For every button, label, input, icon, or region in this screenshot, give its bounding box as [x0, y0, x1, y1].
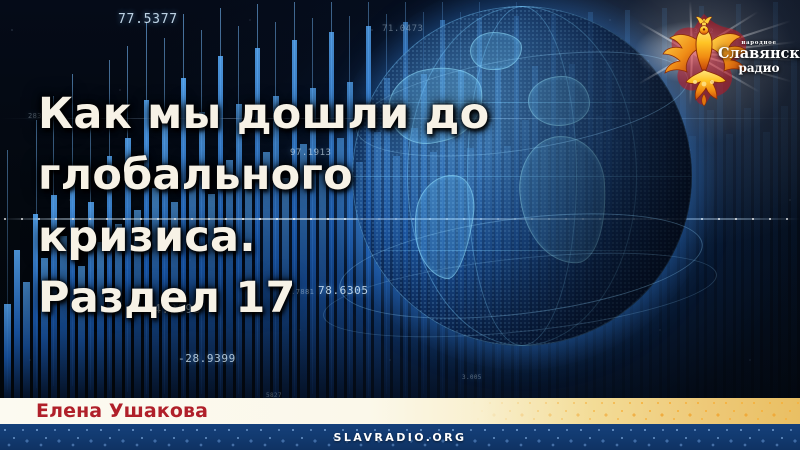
chart-bar: [14, 250, 20, 400]
website-footer-bar[interactable]: SLAVRADIO.ORG: [0, 424, 800, 450]
speaker-name: Елена Ушакова: [36, 400, 208, 422]
logo-main-text: Славянское: [718, 46, 800, 62]
logo-wordmark: народное Славянское радио: [718, 40, 800, 75]
chart-bar: [744, 108, 751, 400]
website-url: SLAVRADIO.ORG: [333, 431, 466, 444]
page-title: Как мы дошли до глобального кризиса. Раз…: [38, 84, 558, 330]
speaker-name-bar: Елена Ушакова: [0, 398, 800, 424]
numeric-readout: 3.005: [462, 374, 482, 381]
chart-bar: [707, 110, 714, 400]
logo-sub-text: радио: [718, 62, 800, 75]
title-line-3: Раздел 17: [38, 268, 558, 329]
chart-bar: [781, 106, 788, 400]
gold-ornament-pattern: [470, 398, 800, 424]
numeric-readout: 77.5377: [118, 12, 178, 27]
thumbnail-canvas: 77.537771.047328397.1913-64.369382.78817…: [0, 0, 800, 450]
chart-bar: [726, 134, 733, 400]
chart-bar: [4, 304, 11, 400]
chart-bar: [23, 282, 30, 400]
title-line-1: Как мы дошли до: [38, 84, 558, 145]
title-line-2: глобального кризиса.: [38, 145, 558, 268]
numeric-readout: 71.0473: [382, 24, 423, 34]
chart-bar: [763, 132, 770, 400]
numeric-readout: -28.9399: [178, 352, 236, 365]
brand-logo[interactable]: народное Славянское радио: [646, 2, 798, 110]
